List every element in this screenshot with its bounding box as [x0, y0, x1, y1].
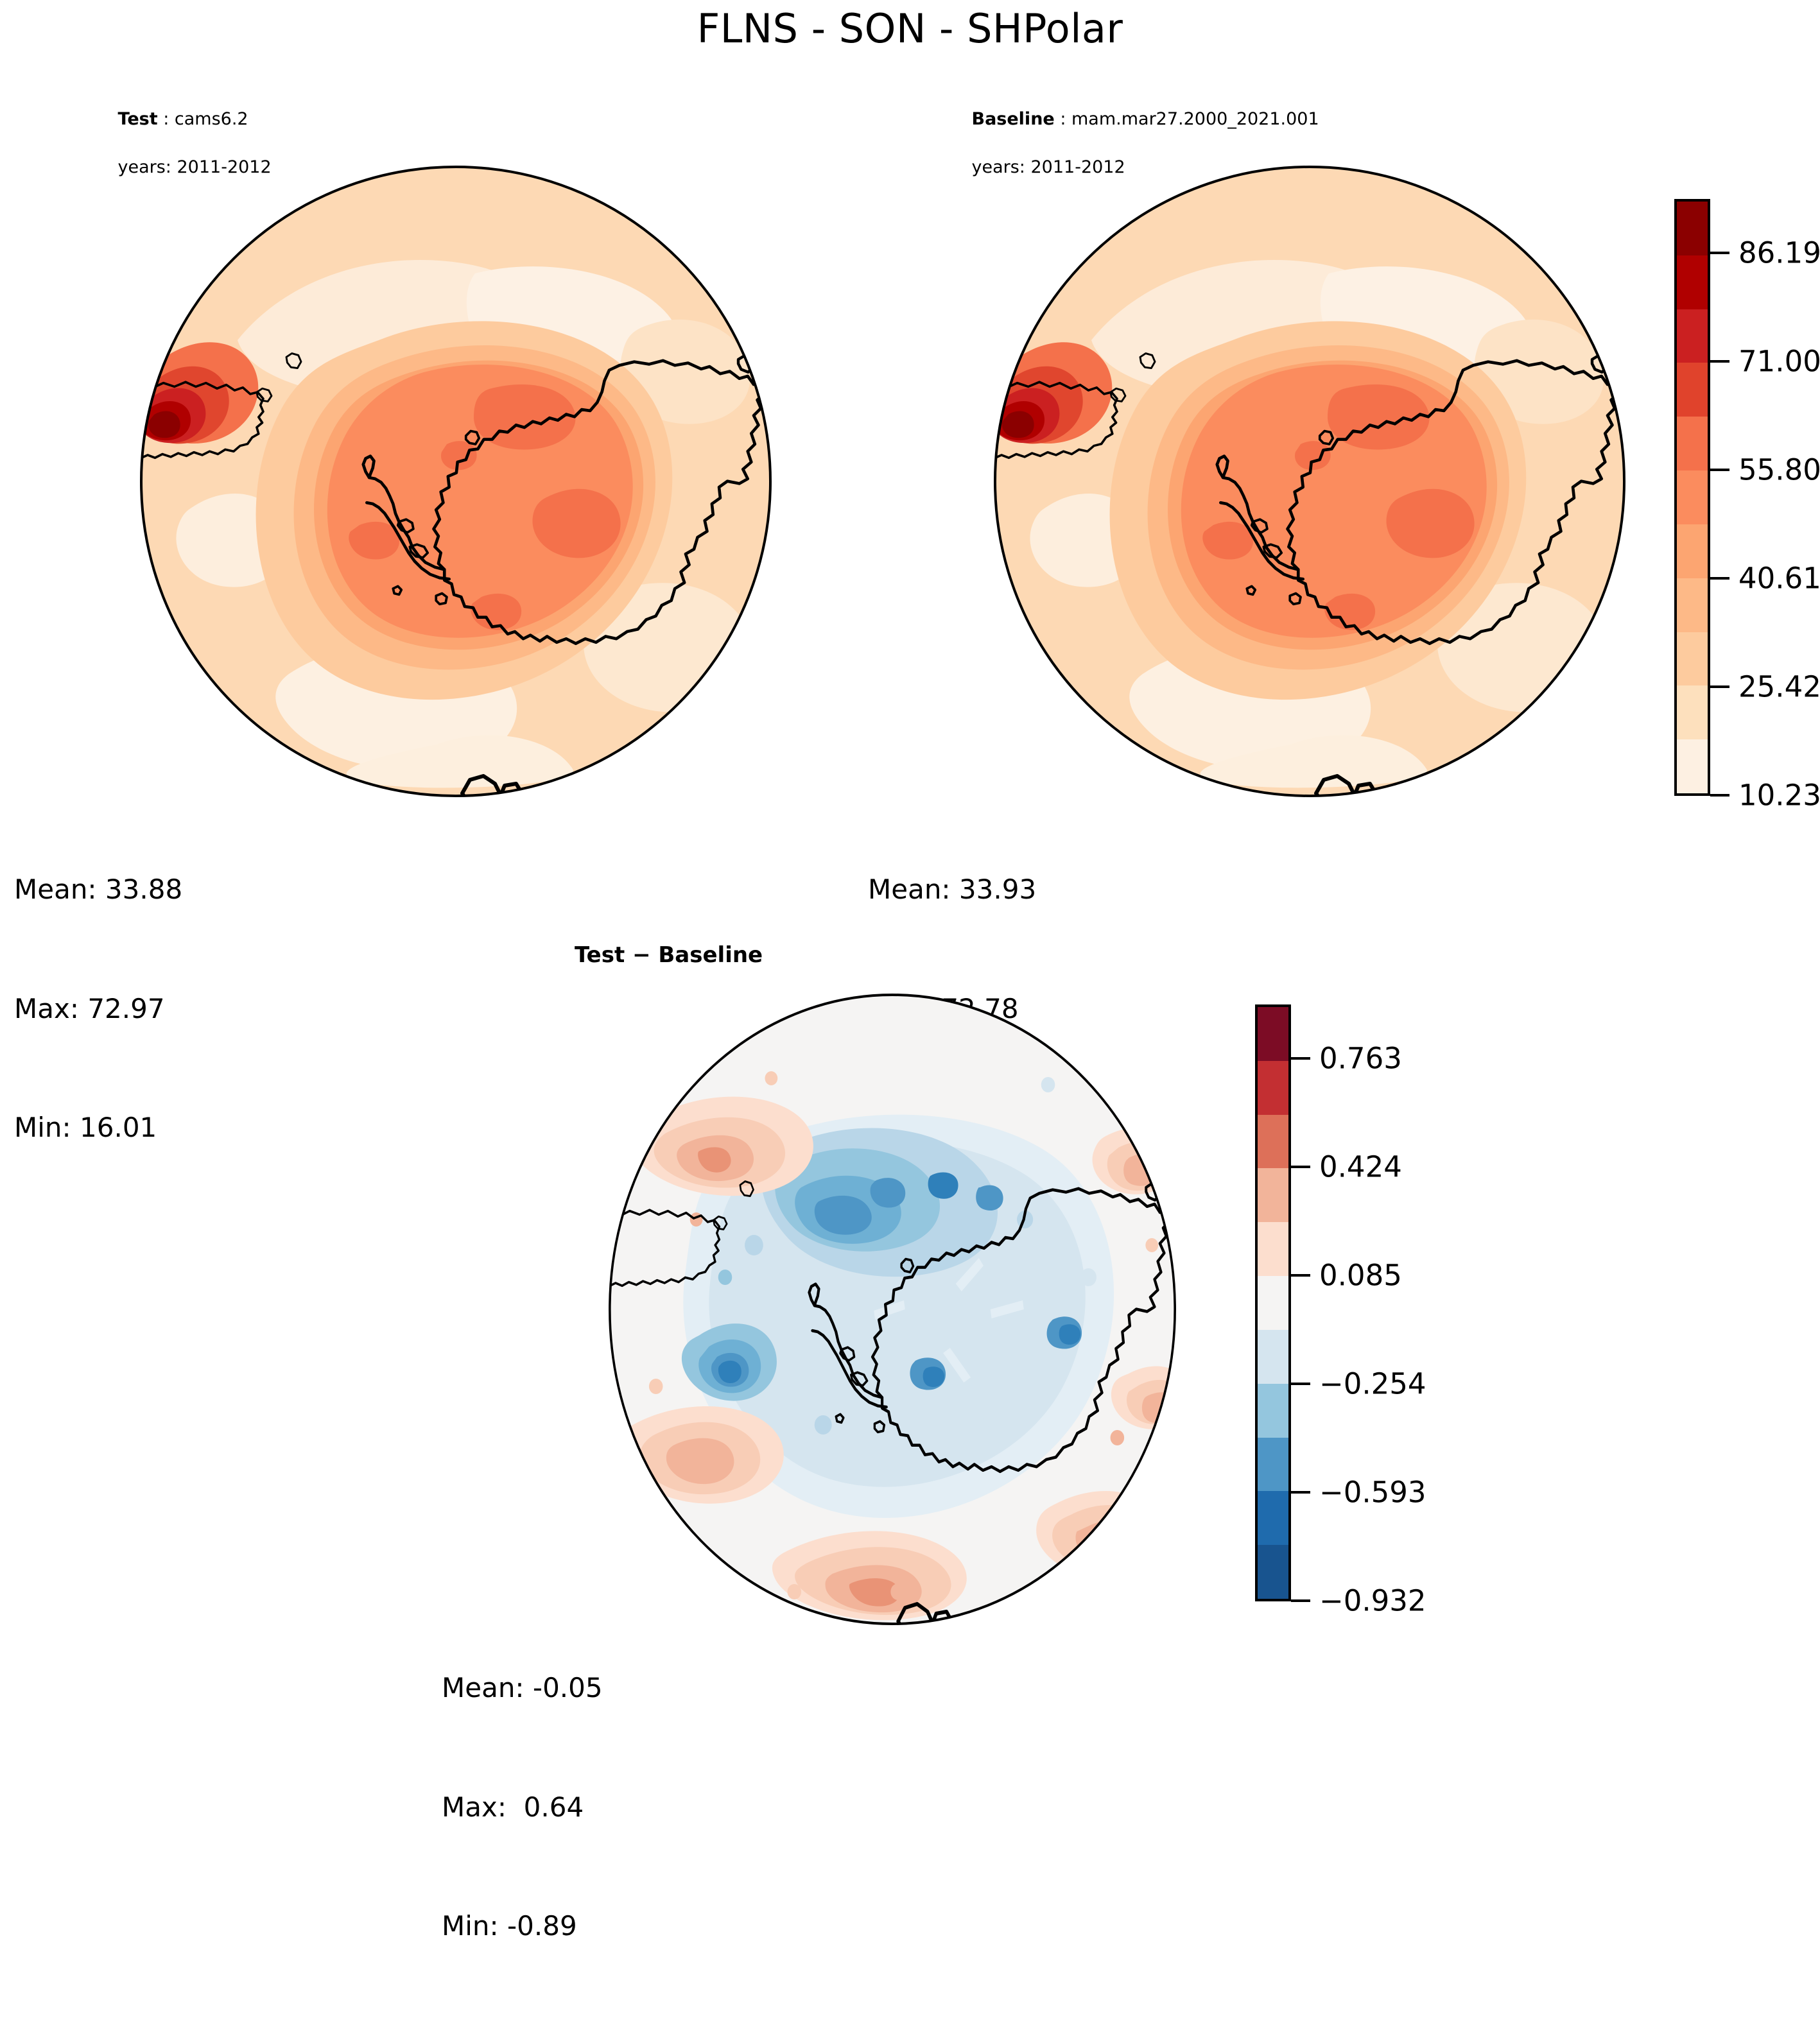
colorbar-tick-label: −0.932 — [1319, 1584, 1426, 1618]
panel-test: Test : cams6.2 years: 2011-2012 — [77, 148, 835, 828]
colorbar-band — [1258, 1545, 1288, 1599]
stat-mean-test: Mean: 33.88 — [14, 870, 182, 909]
colorbar-tick — [1710, 685, 1729, 688]
colorbar-tick-label: 55.80 — [1738, 453, 1820, 487]
colorbar-band — [1258, 1007, 1288, 1061]
colorbar-band — [1258, 1222, 1288, 1276]
stats-difference: Mean: -0.05 Max: 0.64 Min: -0.89 — [442, 1589, 603, 2025]
diff-panel-title: Test − Baseline — [575, 942, 763, 968]
colorbar-band — [1677, 363, 1708, 417]
stat-mean-baseline: Mean: 33.93 — [868, 870, 1036, 909]
colorbar-tick — [1291, 1491, 1310, 1494]
stat-max-difference: Max: 0.64 — [442, 1788, 603, 1827]
stat-min-test: Min: 16.01 — [14, 1108, 182, 1148]
colorbar-tick-label: −0.254 — [1319, 1367, 1426, 1401]
colorbar-tick-label: 10.23 — [1738, 779, 1820, 813]
colorbar-tick — [1291, 1274, 1310, 1277]
colorbar-band — [1677, 524, 1708, 578]
map-difference — [552, 976, 1233, 1656]
colorbar-tick-label: −0.593 — [1319, 1476, 1426, 1510]
map-field-difference — [609, 994, 1190, 1643]
colorbar-band — [1677, 685, 1708, 739]
panel-role-baseline: Baseline — [972, 109, 1055, 129]
colorbar-band — [1677, 739, 1708, 793]
panel-colon: : — [158, 109, 175, 129]
colorbar-tick — [1291, 1599, 1310, 1602]
colorbar-band — [1258, 1115, 1288, 1169]
colorbar-tick — [1291, 1057, 1310, 1060]
main-colorbar-bar — [1674, 199, 1710, 796]
colorbar-tick-label: 0.763 — [1319, 1042, 1402, 1076]
colorbar-tick — [1710, 252, 1729, 254]
colorbar-tick-label: 40.61 — [1738, 562, 1820, 596]
colorbar-band — [1258, 1384, 1288, 1438]
colorbar-tick-label: 71.00 — [1738, 345, 1820, 379]
panel-baseline: Baseline : mam.mar27.2000_2021.001 years… — [931, 148, 1688, 828]
colorbar-tick — [1710, 794, 1729, 797]
colorbar-band — [1677, 578, 1708, 632]
colorbar-tick-label: 25.42 — [1738, 670, 1820, 704]
figure-canvas: FLNS - SON - SHPolar — [0, 0, 1820, 1712]
map-baseline — [931, 148, 1688, 828]
colorbar-tick-label: 86.19 — [1738, 236, 1820, 270]
colorbar-band — [1677, 202, 1708, 255]
panel-header-test: Test : cams6.2 years: 2011-2012 — [85, 83, 272, 203]
colorbar-tick — [1710, 469, 1729, 471]
colorbar-band — [1258, 1061, 1288, 1115]
colorbar-tick — [1710, 360, 1729, 363]
colorbar-tick — [1291, 1383, 1310, 1385]
colorbar-band — [1677, 417, 1708, 470]
panel-colon: : — [1055, 109, 1071, 129]
panel-case-test: cams6.2 — [175, 109, 248, 129]
stat-min-difference: Min: -0.89 — [442, 1906, 603, 1946]
colorbar-tick — [1291, 1166, 1310, 1168]
panel-difference — [552, 976, 1233, 1656]
colorbar-tick — [1710, 577, 1729, 580]
colorbar-band — [1258, 1276, 1288, 1330]
colorbar-band — [1258, 1438, 1288, 1492]
page-title: FLNS - SON - SHPolar — [0, 5, 1820, 52]
colorbar-tick-label: 0.085 — [1319, 1259, 1402, 1293]
colorbar-band — [1258, 1330, 1288, 1384]
diff-colorbar-bar — [1255, 1004, 1291, 1601]
diff-colorbar: 0.763 0.424 0.085 −0.254 −0.593 −0.932 — [1255, 1004, 1448, 1601]
panel-role-test: Test — [118, 109, 158, 129]
colorbar-band — [1677, 470, 1708, 524]
colorbar-tick-label: 0.424 — [1319, 1150, 1402, 1184]
panel-case-baseline: mam.mar27.2000_2021.001 — [1071, 109, 1319, 129]
colorbar-band — [1258, 1491, 1288, 1545]
stat-mean-difference: Mean: -0.05 — [442, 1668, 603, 1708]
colorbar-band — [1677, 255, 1708, 309]
panel-years-baseline: years: 2011-2012 — [972, 157, 1125, 177]
colorbar-band — [1677, 632, 1708, 686]
stat-max-test: Max: 72.97 — [14, 989, 182, 1029]
colorbar-band — [1677, 309, 1708, 363]
map-test — [77, 148, 835, 828]
panel-header-baseline: Baseline : mam.mar27.2000_2021.001 years… — [939, 83, 1319, 203]
main-colorbar: 86.19 71.00 55.80 40.61 25.42 10.23 — [1674, 199, 1816, 796]
panel-years-test: years: 2011-2012 — [118, 157, 272, 177]
stats-test: Mean: 33.88 Max: 72.97 Min: 16.01 — [14, 791, 182, 1227]
colorbar-band — [1258, 1168, 1288, 1222]
